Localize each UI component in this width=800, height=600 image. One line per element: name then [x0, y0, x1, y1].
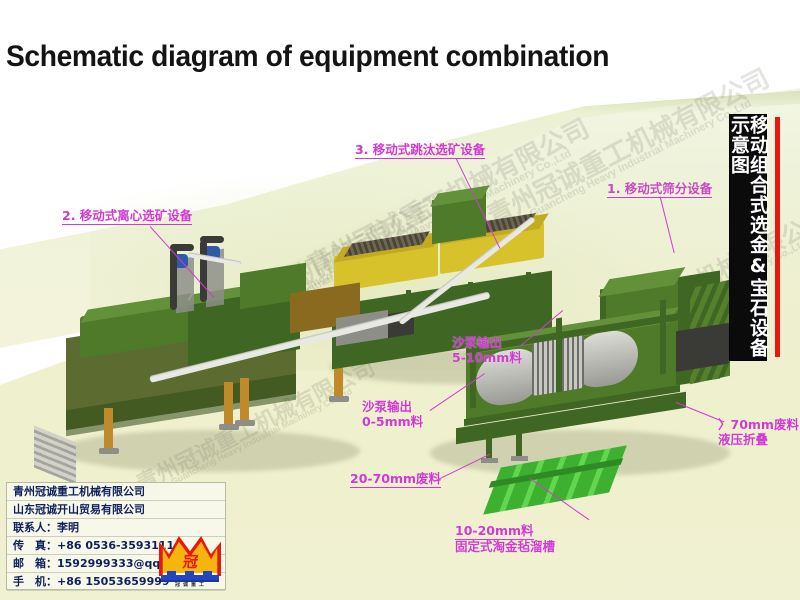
- mobile-label: 手 机：: [13, 575, 57, 588]
- flow-label-pump-0-5mm-line1: 沙泵输出: [362, 400, 423, 415]
- callout-label-3: 3. 移动式跳汰选矿设备: [355, 143, 485, 159]
- schematic-canvas: 青州冠诚重工机械有限公司 Qingzhou Guancheng Heavy In…: [0, 0, 800, 600]
- unit1-trommel-post-2: [556, 318, 562, 393]
- unit2-pipe-bend-right: [200, 236, 224, 243]
- flow-label-pump-5-10mm-line1: 沙泵输出: [452, 336, 522, 351]
- unit2-pipe-bend-left: [170, 244, 194, 251]
- unit1-leg-foot-a: [481, 458, 498, 463]
- company-logo: 冠 冠诚重工: [159, 531, 221, 587]
- contact-person-value: 李明: [57, 521, 79, 534]
- vertical-banner-text: 移动组合式选金&宝石设备示意图: [729, 115, 767, 360]
- callout-label-3-text: 3. 移动式跳汰选矿设备: [355, 143, 485, 159]
- logo-caption: 冠诚重工: [163, 581, 219, 588]
- unit2-jack-1: [104, 408, 113, 450]
- unit1-trommel-post-3: [660, 300, 666, 375]
- flow-label-pump-5-10mm: 沙泵输出 5-10mm料: [452, 336, 522, 366]
- flow-label-10-20mm-sluice-line2: 固定式淘金毡溜槽: [455, 540, 555, 555]
- unit3-leg-4: [526, 272, 531, 328]
- callout-label-2-text: 2. 移动式离心选矿设备: [62, 209, 192, 225]
- flow-label-pump-5-10mm-line2: 5-10mm料: [452, 351, 522, 366]
- flow-label-10-20mm-sluice-line1: 10-20mm料: [455, 524, 555, 540]
- flow-label-over-70mm-waste: 〉70mm废料 液压折叠: [718, 418, 799, 448]
- unit1-leg-foot-b: [511, 456, 528, 461]
- unit2-jack-2: [224, 382, 233, 426]
- flow-label-over-70mm-waste-line2: 液压折叠: [718, 433, 799, 448]
- fax-label: 传 真：: [13, 539, 57, 552]
- flow-label-over-70mm-waste-line1: 〉70mm废料: [718, 418, 799, 433]
- unit2-jack-foot-3: [235, 420, 255, 426]
- unit2-jack-foot-4: [329, 396, 349, 402]
- flow-label-20-70mm-waste: 20-70mm废料: [350, 472, 441, 488]
- email-label: 邮 箱：: [13, 557, 57, 570]
- callout-label-1-text: 1. 移动式筛分设备: [607, 182, 712, 198]
- company-name-1: 青州冠诚重工机械有限公司: [7, 483, 225, 501]
- flow-label-10-20mm-sluice-line1-text: 10-20mm料: [455, 524, 534, 540]
- flow-label-pump-0-5mm-line2: 0-5mm料: [362, 415, 423, 430]
- mobile-value: +86 15053659999: [57, 575, 170, 588]
- company-name-2: 山东冠诚开山贸易有限公司: [7, 501, 225, 519]
- unit2-standpipe-right: [200, 240, 207, 302]
- flow-label-pump-0-5mm: 沙泵输出 0-5mm料: [362, 400, 423, 430]
- unit3-leg-3: [468, 282, 473, 340]
- logo-character: 冠: [182, 551, 200, 572]
- fax-value: +86 0536-3593111: [57, 539, 174, 552]
- unit2-jack-3: [240, 378, 249, 422]
- page-title: Schematic diagram of equipment combinati…: [6, 40, 609, 74]
- contact-card: 青州冠诚重工机械有限公司 山东冠诚开山贸易有限公司 联系人：李明 传 真：+86…: [6, 482, 226, 590]
- callout-label-2: 2. 移动式离心选矿设备: [62, 209, 192, 225]
- contact-person-label: 联系人：: [13, 521, 57, 534]
- unit1-leg-b: [516, 420, 522, 458]
- vertical-accent-bar: [775, 117, 780, 357]
- unit2-jack-foot-1: [99, 448, 119, 454]
- flow-label-20-70mm-waste-text: 20-70mm废料: [350, 472, 441, 488]
- vertical-banner: 移动组合式选金&宝石设备示意图: [729, 114, 767, 361]
- callout-label-1: 1. 移动式筛分设备: [607, 182, 712, 198]
- flow-label-10-20mm-sluice: 10-20mm料 固定式淘金毡溜槽: [455, 524, 555, 555]
